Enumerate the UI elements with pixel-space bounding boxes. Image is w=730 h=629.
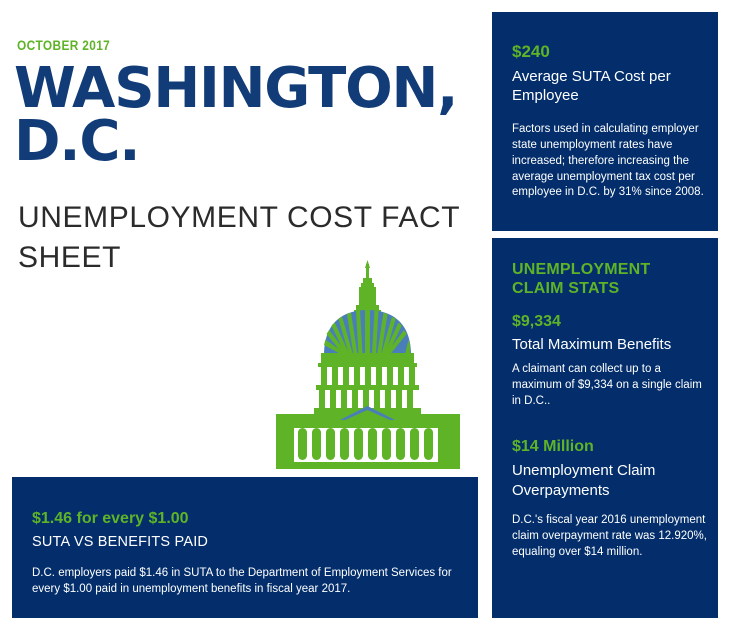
page-title-line-1: Washington, bbox=[14, 62, 474, 115]
panel-suta-vs-benefits-paid: $1.46 for every $1.00 SUTA VS BENEFITS P… bbox=[12, 477, 478, 618]
overpayments-stat-description: D.C.'s fiscal year 2016 unemployment cla… bbox=[512, 513, 707, 561]
suta-stat-number: $240 bbox=[512, 42, 550, 62]
page-title-line-2: D.C. bbox=[14, 115, 474, 168]
benefits-stat-description: D.C. employers paid $1.46 in SUTA to the… bbox=[32, 565, 464, 597]
overpayments-stat-label: Unemployment Claim Overpayments bbox=[512, 461, 707, 500]
claim-stats-heading: UNEMPLOYMENT CLAIM STATS bbox=[512, 260, 702, 298]
overpayments-stat-number: $14 Million bbox=[512, 438, 594, 456]
benefits-stat-number: $1.46 for every $1.00 bbox=[32, 510, 189, 528]
us-capitol-building-icon bbox=[268, 258, 468, 470]
hero-section: OCTOBER 2017 Washington, D.C. Unemployme… bbox=[0, 0, 480, 470]
date-label: OCTOBER 2017 bbox=[17, 38, 110, 53]
page-title: Washington, D.C. bbox=[14, 62, 474, 168]
panel-average-suta-cost: $240 Average SUTA Cost per Employee Fact… bbox=[492, 12, 718, 231]
suta-stat-description: Factors used in calculating employer sta… bbox=[512, 122, 704, 201]
suta-stat-label: Average SUTA Cost per Employee bbox=[512, 67, 702, 105]
max-benefits-stat-number: $9,334 bbox=[512, 313, 561, 331]
max-benefits-stat-description: A claimant can collect up to a maximum o… bbox=[512, 362, 704, 410]
benefits-stat-label: SUTA VS BENEFITS PAID bbox=[32, 534, 208, 550]
panel-unemployment-claim-stats: UNEMPLOYMENT CLAIM STATS $9,334 Total Ma… bbox=[492, 238, 718, 618]
max-benefits-stat-label: Total Maximum Benefits bbox=[512, 336, 707, 353]
